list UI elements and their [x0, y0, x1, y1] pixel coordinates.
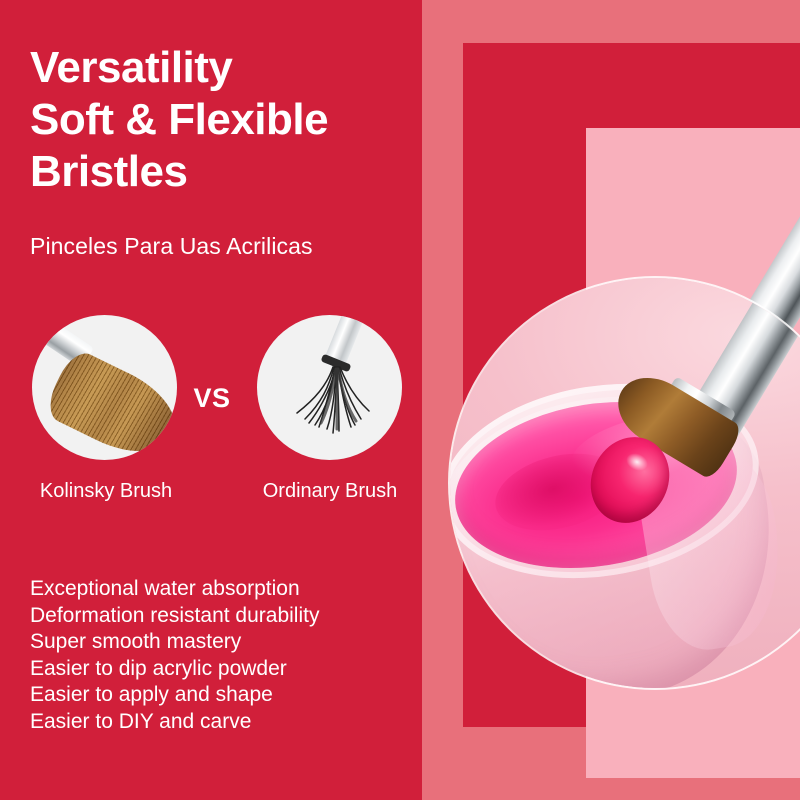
ordinary-brush-circle	[257, 315, 402, 460]
subtitle: Pinceles Para Uas Acrilicas	[30, 233, 313, 260]
headline-line-1: Versatility	[30, 42, 430, 94]
feature-item: Super smooth mastery	[30, 629, 319, 656]
ordinary-brush-label: Ordinary Brush	[230, 480, 430, 503]
brush-comparison: VS Kolinsky Brush Ordinary Brush	[0, 310, 422, 520]
feature-list: Exceptional water absorption Deformation…	[30, 576, 319, 735]
feature-item: Easier to apply and shape	[30, 682, 319, 709]
feature-item: Exceptional water absorption	[30, 576, 319, 603]
ordinary-brush-icon	[257, 315, 402, 460]
vs-label: VS	[186, 383, 238, 414]
kolinsky-brush-label: Kolinsky Brush	[6, 480, 206, 503]
headline-line-2: Soft & Flexible	[30, 94, 430, 146]
headline: Versatility Soft & Flexible Bristles	[30, 42, 430, 198]
kolinsky-bristle-texture	[42, 347, 177, 460]
product-photo-circle	[450, 278, 800, 688]
product-banner: Versatility Soft & Flexible Bristles Pin…	[0, 0, 800, 800]
feature-item: Easier to dip acrylic powder	[30, 656, 319, 683]
feature-item: Deformation resistant durability	[30, 603, 319, 630]
headline-line-3: Bristles	[30, 146, 430, 198]
kolinsky-brush-circle	[32, 315, 177, 460]
feature-item: Easier to DIY and carve	[30, 709, 319, 736]
